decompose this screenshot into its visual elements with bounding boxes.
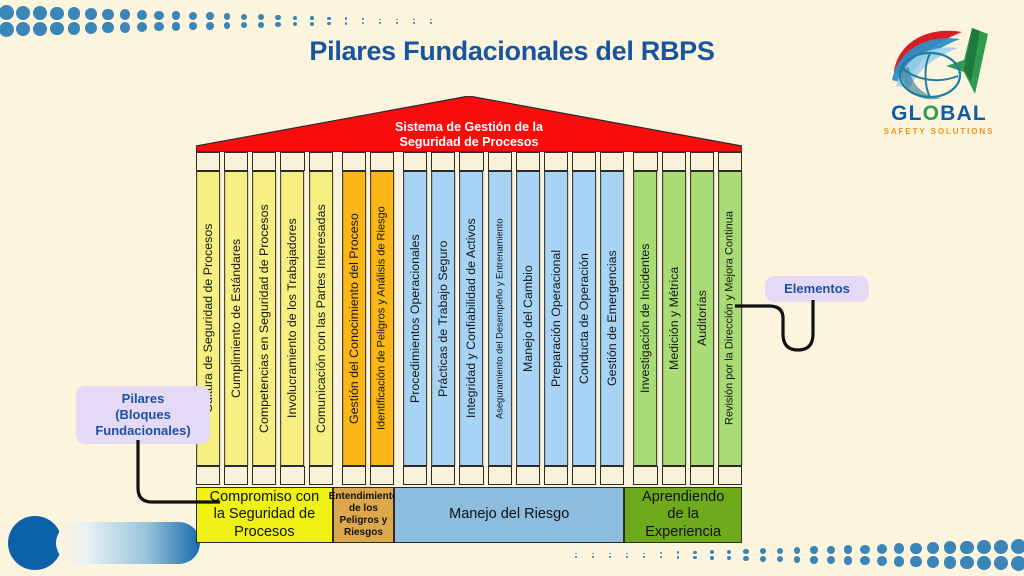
callout-left-line3: Fundacionales) (80, 423, 206, 439)
dot-column (168, 11, 184, 31)
decorative-dot (33, 22, 47, 36)
decorative-dot (827, 556, 835, 564)
decorative-dot (727, 550, 731, 554)
dot-column (253, 14, 269, 27)
decorative-dot (1011, 539, 1024, 554)
decorative-dot (120, 22, 131, 33)
decorative-dot (827, 546, 835, 554)
decorative-dot (760, 548, 766, 554)
decorative-dot (794, 547, 801, 554)
decorative-dot (592, 553, 594, 555)
decorative-dot (154, 11, 163, 20)
decorative-dot (206, 22, 214, 30)
decorative-dot (677, 551, 680, 554)
decorative-dot (362, 18, 364, 20)
pillar-base-block (662, 466, 686, 485)
pillar-base-block (370, 466, 394, 485)
foundation-label-line: Experiencia (642, 524, 724, 541)
group-spacer (394, 171, 403, 466)
pillar-capital (488, 152, 512, 171)
decorative-dot (413, 19, 415, 21)
global-safety-solutions-logo: GLOBAL SAFETY SOLUTIONS (876, 20, 1002, 138)
dot-column (942, 541, 958, 568)
decorative-dot (810, 546, 818, 554)
group-spacer (333, 466, 342, 485)
decorative-dot (643, 553, 645, 555)
decorative-dot (626, 556, 628, 558)
dot-column (602, 553, 618, 558)
foundation-blocks-row: Compromiso conla Seguridad deProcesosEnt… (196, 487, 742, 543)
foundation-manejo-riesgo[interactable]: Manejo del Riesgo (394, 487, 624, 543)
decorative-dot (172, 22, 181, 31)
decorative-dot (910, 556, 921, 567)
group-spacer (624, 466, 633, 485)
decorative-dot (345, 17, 348, 20)
callout-left-line1: Pilares (80, 391, 206, 407)
decorative-dot (877, 556, 887, 566)
dot-column (1010, 539, 1024, 571)
globe-swoosh-logo-icon (876, 20, 1002, 102)
dot-column (49, 7, 65, 35)
pillar-aprendiendo[interactable]: Revisión por la Dirección y Mejora Conti… (718, 171, 742, 466)
decorative-dot (345, 22, 348, 25)
dot-column (755, 548, 771, 561)
group-spacer (394, 152, 403, 171)
pillar-base-block (690, 466, 714, 485)
pillar-base-block (196, 466, 220, 485)
callout-right-label: Elementos (784, 281, 850, 296)
pillar-capital (544, 152, 568, 171)
dot-column (355, 18, 371, 24)
decorative-dot (137, 10, 147, 20)
pillar-manejo-riesgo[interactable]: Aseguramiento del Desempeño y Entrenamie… (488, 171, 512, 466)
pillar-base-block (309, 466, 333, 485)
pillar-capital (309, 152, 333, 171)
dot-column (908, 543, 924, 568)
pillar-base-block (488, 466, 512, 485)
dot-column (857, 545, 873, 566)
dot-column (151, 11, 167, 32)
pillar-manejo-riesgo[interactable]: Gestión de Emergencias (600, 171, 624, 466)
decorative-dot (50, 22, 63, 35)
pillar-manejo-riesgo[interactable]: Prácticas de Trabajo Seguro (431, 171, 455, 466)
decorative-dot (860, 545, 869, 554)
pillar-compromiso[interactable]: Involucramiento de los Trabajadores (280, 171, 304, 466)
pillar-capital (196, 152, 220, 171)
pillar-compromiso[interactable]: Competencias en Seguridad de Procesos (252, 171, 276, 466)
pillar-base-block (544, 466, 568, 485)
decorative-dot (224, 13, 231, 20)
dot-column (925, 542, 941, 568)
pillar-aprendiendo[interactable]: Auditorías (690, 171, 714, 466)
logo-tagline: SAFETY SOLUTIONS (876, 127, 1002, 136)
pillar-manejo-riesgo[interactable]: Integridad y Confiabilidad de Activos (459, 171, 483, 466)
group-spacer (333, 171, 342, 466)
decorative-dot (120, 9, 131, 20)
pillar-spacer (484, 171, 488, 466)
pillar-bases-row (196, 466, 742, 485)
decorative-dot (592, 556, 594, 558)
pillar-base-block (342, 466, 366, 485)
dot-column (423, 19, 439, 24)
decorative-dot (660, 552, 662, 554)
dot-column (236, 14, 252, 29)
foundation-label-line: Procesos (210, 524, 320, 541)
pillar-base-block (572, 466, 596, 485)
pillar-capital (718, 152, 742, 171)
callout-left-line2: (Bloques (80, 407, 206, 423)
decorative-dot (16, 6, 30, 20)
decorative-dot (609, 553, 611, 555)
pillar-base-block (280, 466, 304, 485)
pillar-base-block (600, 466, 624, 485)
decorative-dot (189, 22, 197, 30)
roof-label: Sistema de Gestión de la Seguridad de Pr… (196, 120, 742, 151)
dot-column (66, 7, 82, 34)
pillar-capital (403, 152, 427, 171)
logo-wordmark: GLOBAL (876, 103, 1002, 124)
pillar-entendimiento[interactable]: Gestión del Conocimiento del Proceso (342, 171, 366, 466)
decorative-dot (275, 15, 280, 20)
pillar-spacer (658, 171, 662, 466)
dot-column (134, 10, 150, 32)
pillar-base-block (224, 466, 248, 485)
pillar-capital (224, 152, 248, 171)
decorative-dot (609, 556, 611, 558)
dot-column (874, 544, 890, 566)
pillar-base-block (252, 466, 276, 485)
decorative-dot (85, 22, 97, 34)
group-spacer (394, 466, 403, 485)
dot-column (806, 546, 822, 563)
pillar-manejo-riesgo[interactable]: Conducta de Operación (572, 171, 596, 466)
decorative-dot (693, 556, 696, 559)
decorative-dot (575, 553, 577, 555)
decorative-dot (960, 556, 973, 569)
decorative-dot (710, 550, 714, 554)
pillar-compromiso[interactable]: Comunicación con las Partes Interesadas (309, 171, 333, 466)
decorative-dot (258, 14, 264, 20)
dot-column (636, 553, 652, 558)
decorative-dot (994, 556, 1008, 570)
pillar-capital (633, 152, 657, 171)
decorative-dot (977, 540, 991, 554)
decorative-dot (310, 16, 314, 20)
pillar-compromiso[interactable]: Cumplimiento de Estándares (224, 171, 248, 466)
pillar-base-block (516, 466, 540, 485)
dot-column (840, 545, 856, 565)
foundation-label-line: de los Peligros y (329, 503, 398, 527)
decorative-dot (743, 549, 748, 554)
decorative-pill-bottom-left (56, 522, 200, 564)
decorative-dot (575, 556, 577, 558)
decorative-dot (362, 22, 364, 24)
decorative-dot (710, 556, 714, 560)
decorative-dot (844, 556, 853, 565)
dot-column (721, 550, 737, 561)
decorative-dot (241, 22, 247, 28)
foundation-label: Compromiso conla Seguridad deProcesos (210, 489, 320, 540)
callout-elementos: Elementos (765, 276, 869, 302)
dot-column (823, 546, 839, 564)
dot-column (585, 553, 601, 558)
logo-word-left: GL (891, 102, 923, 125)
decorative-dot (760, 556, 766, 562)
decorative-dot (960, 541, 973, 554)
decorative-dot (224, 22, 231, 29)
foundation-label-line: de la (642, 506, 724, 523)
dot-column (287, 16, 303, 27)
foundation-label: Manejo del Riesgo (449, 506, 569, 523)
dot-column (568, 553, 584, 558)
dot-column (219, 13, 235, 29)
decorative-dot (241, 14, 247, 20)
pillar-base-block (633, 466, 657, 485)
foundation-entendimiento[interactable]: Entendimientode los Peligros yRiesgos (333, 487, 394, 543)
decorative-dot (794, 556, 801, 563)
pillar-capital (370, 152, 394, 171)
dot-column (993, 540, 1009, 571)
dot-column (321, 17, 337, 25)
decorative-dot (16, 22, 30, 36)
decorative-dot (154, 22, 163, 31)
pillar-capital (280, 152, 304, 171)
dot-column (32, 6, 48, 36)
logo-word-right: BAL (940, 102, 987, 125)
pillar-base-block (431, 466, 455, 485)
decorative-dot (977, 556, 991, 570)
decorative-dot (944, 556, 957, 569)
decorative-dot (0, 22, 14, 37)
decorative-dot (430, 19, 432, 21)
dot-column (270, 15, 286, 27)
decorative-dot (927, 556, 939, 568)
dot-column (304, 16, 320, 26)
decorative-dot (206, 12, 214, 20)
decorative-dot (33, 6, 47, 20)
pillar-base-block (718, 466, 742, 485)
dot-column (959, 541, 975, 569)
decorative-dot (189, 12, 197, 20)
decorative-dot (85, 8, 97, 20)
dot-column (83, 8, 99, 34)
pillar-capital (342, 152, 366, 171)
roof-label-line1: Sistema de Gestión de la (196, 120, 742, 135)
dot-column (619, 553, 635, 558)
dot-column (406, 19, 422, 24)
dot-column (117, 9, 133, 32)
pillar-capital (690, 152, 714, 171)
foundation-label-line: Compromiso con (210, 489, 320, 506)
decorative-dot (258, 22, 264, 28)
decorative-dot (810, 556, 818, 564)
decorative-dot (677, 556, 680, 559)
group-spacer (624, 171, 633, 466)
pillar-entendimiento[interactable]: Identificación de Peligros y Análisis de… (370, 171, 394, 466)
dot-column (338, 17, 354, 24)
dot-column (738, 549, 754, 561)
group-spacer (624, 152, 633, 171)
callout-pilares-bloques-fundacionales: Pilares (Bloques Fundacionales) (76, 386, 210, 444)
decorative-dots-top-left (0, 2, 439, 40)
dot-column (372, 19, 388, 24)
pillar-capitals-row (196, 152, 742, 171)
dot-column (704, 550, 720, 560)
dot-column (389, 19, 405, 24)
foundation-compromiso[interactable]: Compromiso conla Seguridad deProcesos (196, 487, 333, 543)
dot-column (789, 547, 805, 563)
pillar-manejo-riesgo[interactable]: Procedimientos Operacionales (403, 171, 427, 466)
decorative-dot (396, 22, 398, 24)
decorative-dot (379, 19, 381, 21)
dot-column (772, 548, 788, 563)
pillar-capital (459, 152, 483, 171)
pillar-aprendiendo[interactable]: Medición y Métrica (662, 171, 686, 466)
decorative-dot (310, 22, 314, 26)
dot-column (15, 6, 31, 37)
logo-word-o: O (923, 102, 941, 125)
decorative-dot (626, 553, 628, 555)
foundation-label-line: Manejo del Riesgo (449, 506, 569, 523)
decorative-dot (327, 17, 330, 20)
dot-column (653, 552, 669, 558)
foundation-label: Entendimientode los Peligros yRiesgos (329, 491, 398, 539)
decorative-dot (693, 551, 696, 554)
callout-elementos-connector (735, 300, 835, 360)
decorative-dot (379, 22, 381, 24)
temple-roof: Sistema de Gestión de la Seguridad de Pr… (196, 96, 742, 152)
decorative-dot (293, 22, 297, 26)
decorative-dot (777, 548, 783, 554)
decorative-dot (894, 556, 905, 567)
pillar-capital (572, 152, 596, 171)
decorative-dot (1011, 556, 1024, 571)
decorative-dot (727, 556, 731, 560)
pillar-capital (252, 152, 276, 171)
dot-column (891, 543, 907, 566)
pillar-base-block (403, 466, 427, 485)
foundation-label-line: la Seguridad de (210, 506, 320, 523)
decorative-dot (0, 5, 14, 20)
decorative-dot (777, 556, 783, 562)
pillar-manejo-riesgo[interactable]: Preparación Operacional (544, 171, 568, 466)
decorative-dot (102, 22, 113, 33)
decorative-dot (743, 556, 748, 561)
dot-column (687, 551, 703, 559)
decorative-circle-bottom-left (8, 516, 62, 570)
decorative-dot (50, 7, 63, 20)
dot-column (202, 12, 218, 29)
page-title: Pilares Fundacionales del RBPS (0, 36, 1024, 67)
decorative-dot (660, 556, 662, 558)
decorative-dot (68, 22, 81, 35)
pillar-capital (600, 152, 624, 171)
group-spacer (333, 152, 342, 171)
decorative-dot (994, 540, 1008, 554)
decorative-dot (327, 22, 330, 25)
pillar-capital (516, 152, 540, 171)
decorative-dot (137, 22, 147, 32)
pillar-base-block (459, 466, 483, 485)
pillar-capital (662, 152, 686, 171)
pillar-aprendiendo[interactable]: Investigación de Incidentes (633, 171, 657, 466)
decorative-dot (68, 7, 81, 20)
decorative-dot (293, 16, 297, 20)
decorative-dot (927, 542, 939, 554)
decorative-dot (430, 22, 432, 24)
foundation-label: Aprendiendode laExperiencia (642, 489, 724, 540)
decorative-dot (860, 556, 869, 565)
dot-column (185, 12, 201, 30)
foundation-label-line: Riesgos (329, 527, 398, 539)
foundation-label-line: Aprendiendo (642, 489, 724, 506)
pillar-capital (431, 152, 455, 171)
decorative-dot (413, 22, 415, 24)
decorative-dot (172, 11, 181, 20)
decorative-dot (944, 541, 957, 554)
dot-column (976, 540, 992, 570)
rbps-temple-diagram: Sistema de Gestión de la Seguridad de Pr… (196, 96, 742, 543)
decorative-dot (102, 9, 113, 20)
decorative-dot (275, 22, 280, 27)
decorative-dot (844, 545, 853, 554)
pillar-shafts-row: Cultura de Seguridad de ProcesosCumplimi… (196, 171, 742, 466)
dot-column (100, 9, 116, 34)
pillar-manejo-riesgo[interactable]: Manejo del Cambio (516, 171, 540, 466)
decorative-dot (894, 543, 905, 554)
dot-column (670, 551, 686, 558)
dot-column (0, 5, 14, 37)
foundation-aprendiendo[interactable]: Aprendiendode laExperiencia (624, 487, 742, 543)
foundation-label-line: Entendimiento (329, 491, 398, 503)
decorative-dot (910, 543, 921, 554)
decorative-dot (643, 556, 645, 558)
roof-label-line2: Seguridad de Procesos (196, 135, 742, 150)
decorative-dot (396, 19, 398, 21)
decorative-dot (877, 544, 887, 554)
